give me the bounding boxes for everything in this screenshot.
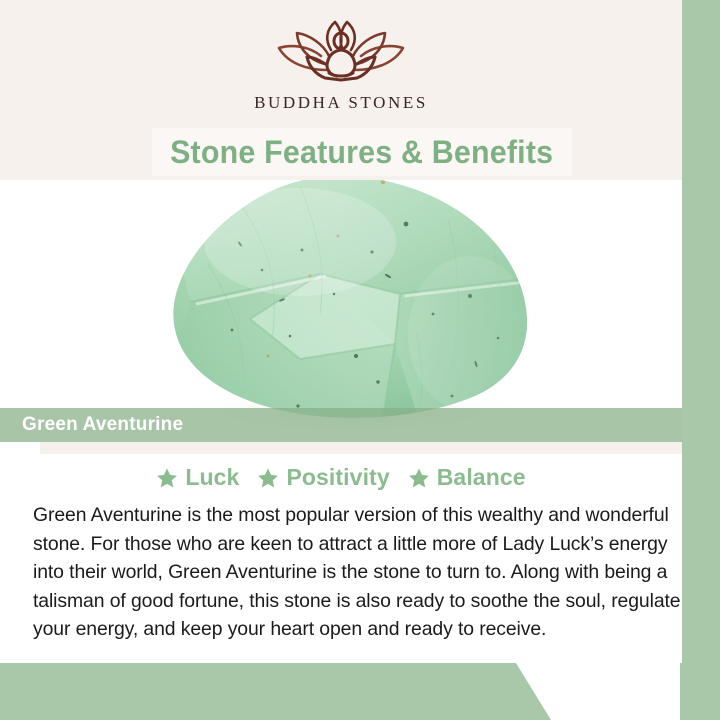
benefit-label: Luck: [185, 464, 239, 491]
title-banner: Stone Features & Benefits: [152, 128, 572, 176]
benefits-row: Luck Positivity Balance: [0, 464, 682, 491]
lotus-meditation-icon: [257, 16, 425, 88]
stone-description: Green Aventurine is the most popular ver…: [33, 501, 693, 644]
product-info-card: BUDDHA STONES Stone Features & Benefits: [0, 0, 720, 720]
benefit-label: Balance: [437, 464, 526, 491]
benefit-label: Positivity: [286, 464, 389, 491]
brand-name: BUDDHA STONES: [254, 93, 428, 113]
panel-top-strip: [40, 442, 682, 454]
stone-name-label: Green Aventurine: [22, 414, 183, 436]
star-icon: [156, 467, 178, 489]
benefit-item: Positivity: [257, 464, 389, 491]
benefit-item: Balance: [408, 464, 526, 491]
benefit-item: Luck: [156, 464, 239, 491]
stone-photo: [0, 180, 682, 442]
star-icon: [408, 467, 430, 489]
frame-bottom-accent: [0, 663, 720, 720]
brand-logo: BUDDHA STONES: [0, 16, 682, 113]
page-title: Stone Features & Benefits: [170, 134, 553, 171]
stone-name-bar: Green Aventurine: [0, 408, 682, 442]
green-aventurine-stone-image: [0, 180, 682, 442]
star-icon: [257, 467, 279, 489]
